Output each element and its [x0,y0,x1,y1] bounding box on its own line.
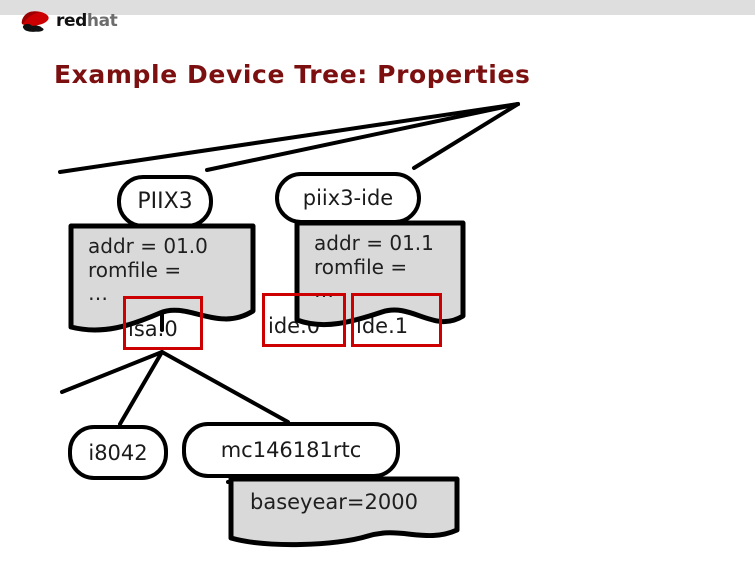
node-i8042-label: i8042 [88,441,147,465]
node-piix3[interactable]: PIIX3 [117,175,213,228]
node-mc146181rtc-label: mc146181rtc [221,438,362,462]
edge-isa0-to-rtc [162,352,288,422]
edge-isa0-to-i8042 [120,352,162,424]
edge-root-to-piix3 [207,104,518,170]
slide-canvas: redhat Example Device Tree: Properties i… [0,0,755,566]
highlight-box-ide0 [262,293,346,347]
node-piix3-label: PIIX3 [137,189,192,214]
edge-isa0-to-offscreen [62,352,162,392]
node-mc146181rtc[interactable]: mc146181rtc [182,422,400,478]
node-piix3-ide[interactable]: piix3-ide [275,172,421,224]
highlight-box-ide1 [351,293,442,347]
node-piix3-ide-label: piix3-ide [303,186,393,210]
note-rtc-properties: baseyear=2000 [228,476,460,548]
highlight-box-isa0 [123,296,203,350]
note-rtc-text: baseyear=2000 [250,490,418,515]
edge-root-to-offscreen [60,104,518,172]
node-i8042[interactable]: i8042 [68,425,168,480]
